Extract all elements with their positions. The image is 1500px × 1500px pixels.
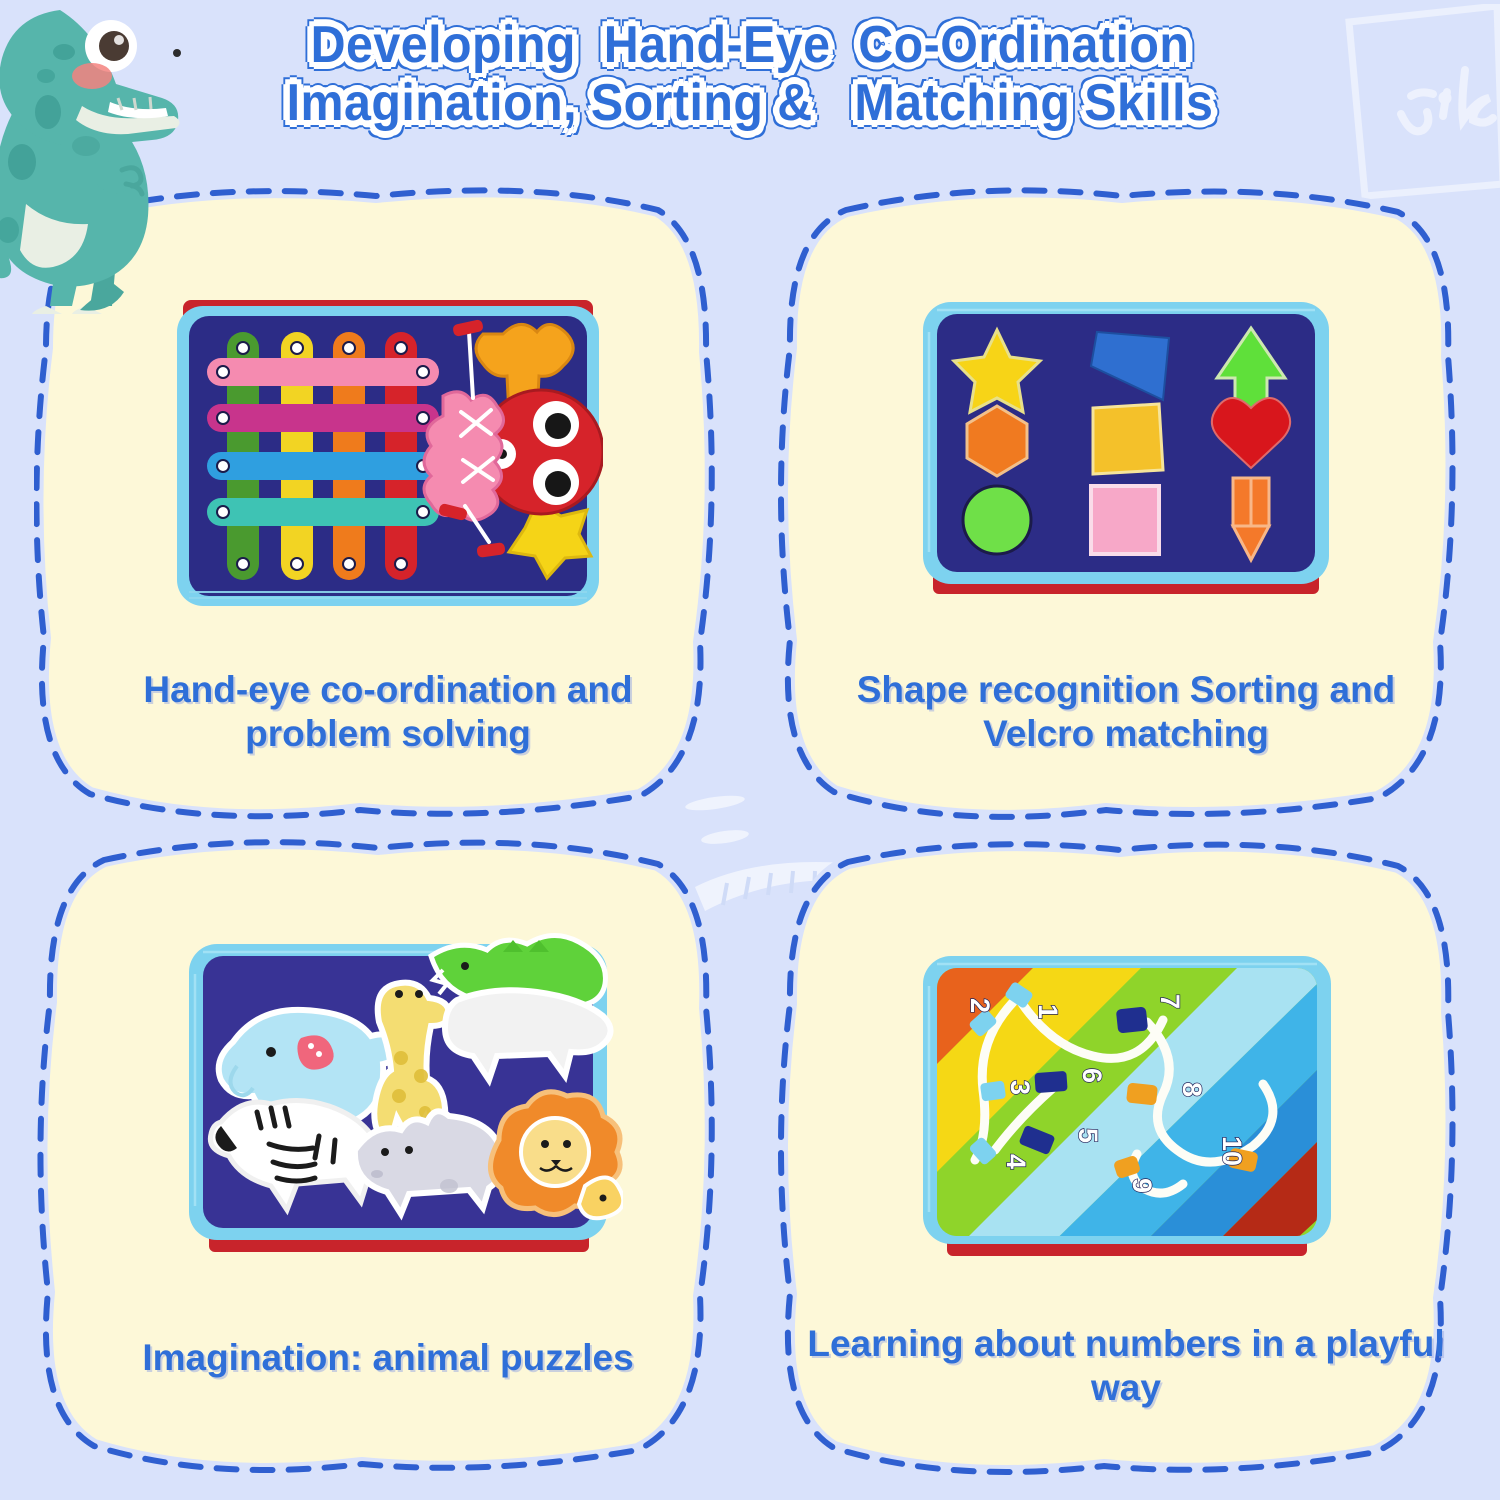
feature-panel-numbers: 1 2 3 4 5 6 7 8 9 10 Learning about numb… [772, 836, 1480, 1486]
square-pink-shape [1091, 486, 1159, 554]
number-label-8: 8 [1177, 1082, 1207, 1097]
square-shape [1093, 404, 1163, 474]
number-label-4: 4 [1001, 1154, 1031, 1169]
number-label-9: 9 [1127, 1178, 1157, 1193]
panel-caption-numbers: Learning about numbers in a playful way [806, 1322, 1446, 1409]
panel-caption-hand-eye: Hand-eye co-ordination and problem solvi… [68, 668, 708, 755]
page-title-line-2: Imagination, Sorting & Matching Skills [53, 74, 1448, 132]
page-title-line-1: Developing Hand-Eye Co-Ordination [53, 16, 1448, 74]
number-label-1: 1 [1033, 1004, 1063, 1019]
panel-caption-shapes: Shape recognition Sorting and Velcro mat… [806, 668, 1446, 755]
animal-puzzle-board-photo [173, 930, 603, 1260]
panel-caption-animals: Imagination: animal puzzles [68, 1336, 708, 1380]
feature-panel-shapes: Shape recognition Sorting and Velcro mat… [772, 182, 1480, 832]
lacing-weaving-board-photo [173, 292, 603, 622]
circle-shape [963, 486, 1031, 554]
feature-panel-animals: Imagination: animal puzzles [34, 836, 742, 1486]
shape-sorting-board-photo [911, 292, 1341, 622]
lion-puzzle [490, 1092, 623, 1219]
page-title: Developing Hand-Eye Co-Ordination Imagin… [0, 16, 1500, 132]
number-label-5: 5 [1073, 1128, 1103, 1143]
number-label-3: 3 [1005, 1080, 1035, 1095]
number-label-7: 7 [1155, 994, 1185, 1009]
number-label-6: 6 [1077, 1068, 1107, 1083]
number-label-10: 10 [1217, 1136, 1247, 1166]
number-lacing-board-photo: 1 2 3 4 5 6 7 8 9 10 [911, 946, 1341, 1276]
feature-panel-grid: Hand-eye co-ordination and problem solvi… [0, 176, 1500, 1500]
number-label-2: 2 [965, 998, 995, 1013]
